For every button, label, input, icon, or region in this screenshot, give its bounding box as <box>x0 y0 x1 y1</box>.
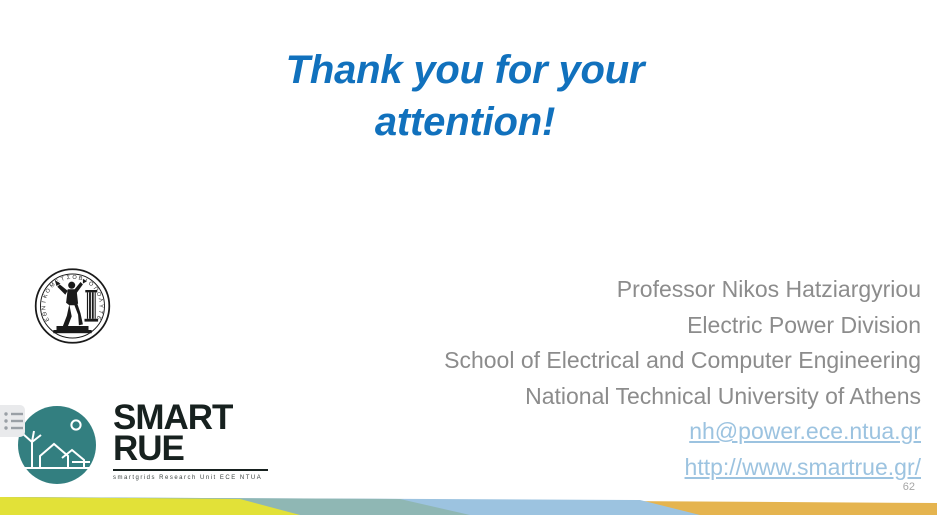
svg-text:Υ: Υ <box>98 304 104 308</box>
bulleted-list-icon[interactable] <box>0 405 25 437</box>
slide-title: Thank you for your attention! <box>200 44 730 148</box>
smartrue-wordmark: SMART RUE smartgrids Research Unit ECE N… <box>113 402 268 483</box>
contact-block: Professor Nikos Hatziargyriou Electric P… <box>301 272 921 485</box>
smartrue-divider <box>113 469 268 471</box>
smartrue-emblem-icon <box>14 406 100 484</box>
contact-line-school: School of Electrical and Computer Engine… <box>301 343 921 379</box>
smartrue-tagline: smartgrids Research Unit ECE NTUA <box>113 474 268 483</box>
footer-decorative-bands <box>0 493 937 515</box>
ntua-logo: Ε Θ Ν Ι Κ Ο Μ Ε Τ Σ Ο Β Ι Ο Π Ο Λ Υ Τ Ε <box>26 266 119 346</box>
smartrue-logo: SMART RUE smartgrids Research Unit ECE N… <box>14 400 266 484</box>
smartrue-word-rue: RUE <box>113 433 268 464</box>
contact-line-name: Professor Nikos Hatziargyriou <box>301 272 921 308</box>
contact-line-university: National Technical University of Athens <box>301 379 921 415</box>
page-number: 62 <box>903 481 915 493</box>
svg-text:Ν: Ν <box>41 306 47 310</box>
contact-line-division: Electric Power Division <box>301 308 921 344</box>
email-link[interactable]: nh@power.ece.ntua.gr <box>301 414 921 450</box>
ntua-seal-icon: Ε Θ Ν Ι Κ Ο Μ Ε Τ Σ Ο Β Ι Ο Π Ο Λ Υ Τ Ε <box>26 266 119 346</box>
bulleted-list-overlay[interactable] <box>0 405 25 437</box>
website-link[interactable]: http://www.smartrue.gr/ <box>301 450 921 486</box>
presentation-slide: Thank you for your attention! Ε Θ Ν Ι Κ … <box>0 0 937 515</box>
